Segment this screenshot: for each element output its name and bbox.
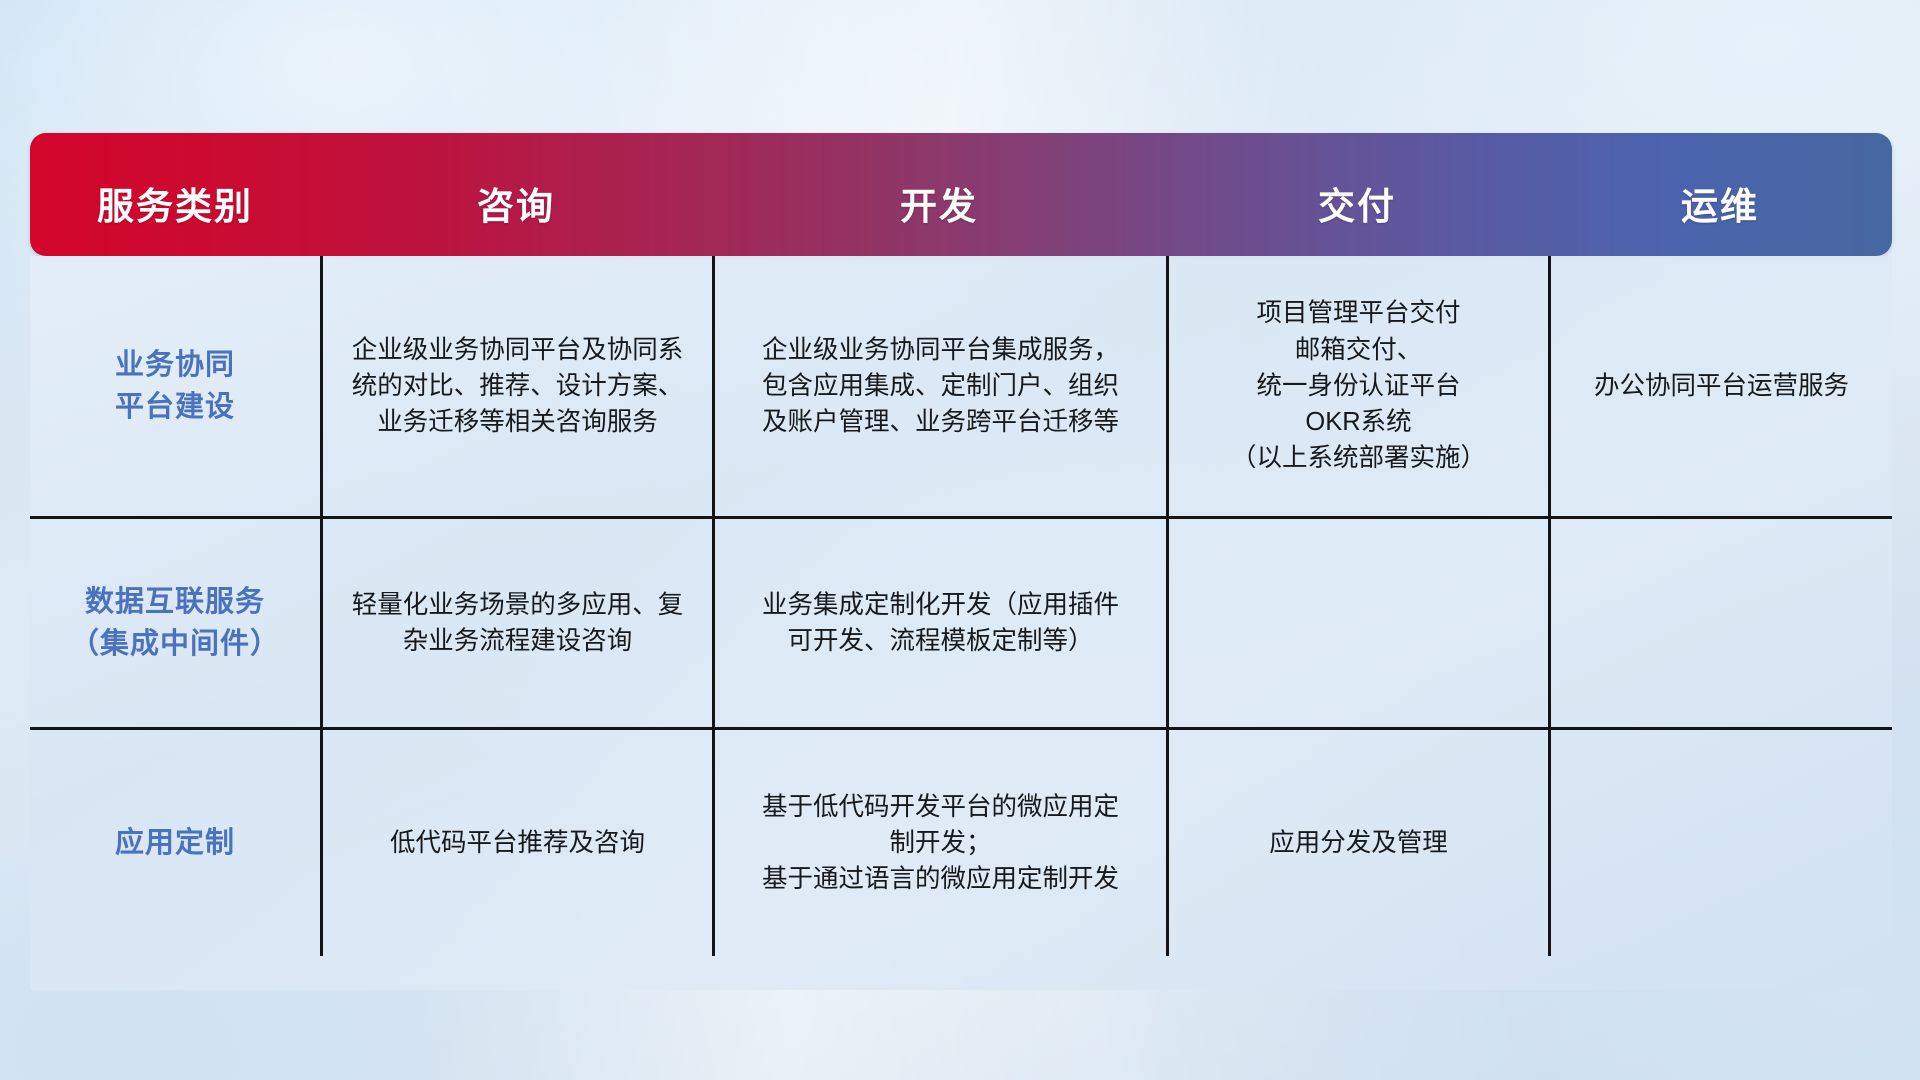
table-cell xyxy=(1548,730,1892,956)
table-cell xyxy=(1548,519,1892,727)
table-cell: 企业级业务协同平台及协同系 统的对比、推荐、设计方案、 业务迁移等相关咨询服务 xyxy=(320,256,712,516)
header-label-3: 交付 xyxy=(1318,176,1396,230)
header-cell-delivery: 交付 xyxy=(1166,133,1548,256)
header-cell-service-category: 服务类别 xyxy=(30,133,320,256)
header-label-0: 服务类别 xyxy=(97,176,253,230)
table-cell xyxy=(1166,519,1548,727)
table-body: 业务协同 平台建设 企业级业务协同平台及协同系 统的对比、推荐、设计方案、 业务… xyxy=(30,256,1892,990)
header-label-1: 咨询 xyxy=(477,176,555,230)
header-cell-development: 开发 xyxy=(712,133,1166,256)
header-label-4: 运维 xyxy=(1681,176,1759,230)
table-cell: 基于低代码开发平台的微应用定 制开发； 基于通过语言的微应用定制开发 xyxy=(712,730,1166,956)
header-label-2: 开发 xyxy=(900,176,978,230)
row-category-label: 业务协同 平台建设 xyxy=(30,256,320,516)
table-cell: 办公协同平台运营服务 xyxy=(1548,256,1892,516)
service-matrix-table: 服务类别 咨询 开发 交付 运维 业务协同 平台建设 企业级业务协同平台及协同系… xyxy=(30,133,1892,990)
header-cell-operations: 运维 xyxy=(1548,133,1892,256)
row-category-label: 数据互联服务 （集成中间件） xyxy=(30,519,320,727)
table-cell: 企业级业务协同平台集成服务， 包含应用集成、定制门户、组织 及账户管理、业务跨平… xyxy=(712,256,1166,516)
table-row: 业务协同 平台建设 企业级业务协同平台及协同系 统的对比、推荐、设计方案、 业务… xyxy=(30,256,1892,516)
table-cell: 项目管理平台交付 邮箱交付、 统一身份认证平台 OKR系统 （以上系统部署实施） xyxy=(1166,256,1548,516)
row-category-label: 应用定制 xyxy=(30,730,320,956)
table-row: 数据互联服务 （集成中间件） 轻量化业务场景的多应用、复 杂业务流程建设咨询 业… xyxy=(30,516,1892,727)
slide-canvas: 服务类别 咨询 开发 交付 运维 业务协同 平台建设 企业级业务协同平台及协同系… xyxy=(0,0,1920,1080)
table-cell: 低代码平台推荐及咨询 xyxy=(320,730,712,956)
table-row: 应用定制 低代码平台推荐及咨询 基于低代码开发平台的微应用定 制开发； 基于通过… xyxy=(30,727,1892,956)
table-cell: 业务集成定制化开发（应用插件 可开发、流程模板定制等） xyxy=(712,519,1166,727)
table-cell: 应用分发及管理 xyxy=(1166,730,1548,956)
table-header-row: 服务类别 咨询 开发 交付 运维 xyxy=(30,133,1892,256)
header-cell-consulting: 咨询 xyxy=(320,133,712,256)
table-cell: 轻量化业务场景的多应用、复 杂业务流程建设咨询 xyxy=(320,519,712,727)
